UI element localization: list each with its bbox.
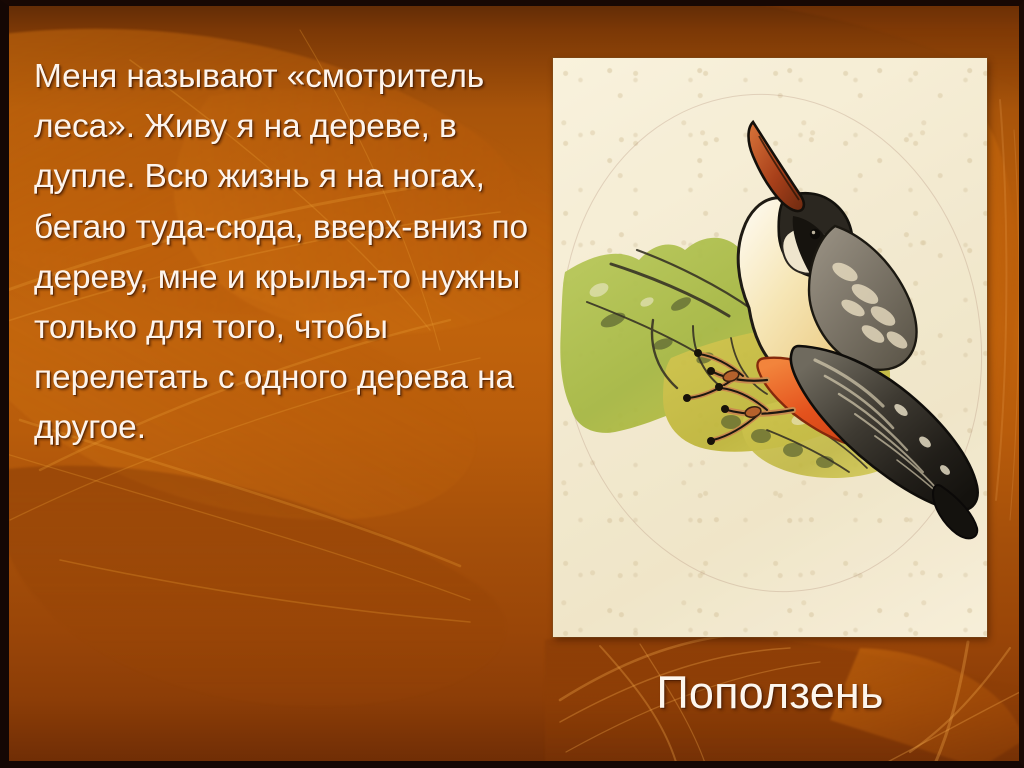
presentation-slide: Меня называют «смотритель леса». Живу я …	[0, 0, 1024, 768]
bird-illustration-card	[553, 58, 987, 637]
illustration-caption: Поползень	[560, 665, 980, 721]
bird-nuthatch-icon	[553, 58, 987, 637]
slide-body-text: Меня называют «смотритель леса». Живу я …	[34, 52, 539, 454]
